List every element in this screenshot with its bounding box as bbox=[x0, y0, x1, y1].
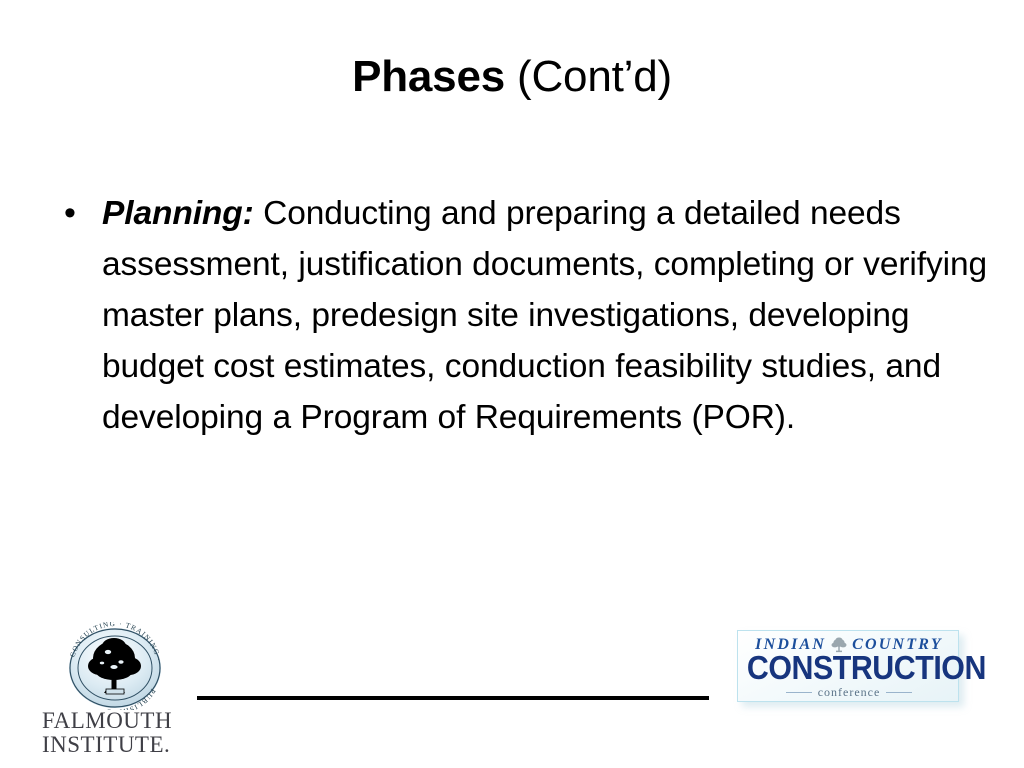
bullet-icon: • bbox=[64, 188, 76, 239]
falmouth-wordmark-line-2: INSTITUTE. bbox=[42, 734, 198, 758]
list-item-text: Planning: Conducting and preparing a det… bbox=[102, 195, 987, 436]
page-title: Phases (Cont’d) bbox=[0, 52, 1024, 102]
falmouth-seal-icon: CONSULTING · TRAINING · PUBLISHING bbox=[62, 622, 168, 710]
falmouth-institute-wordmark: FALMOUTH INSTITUTE. bbox=[42, 710, 198, 758]
icc-logo-frame: INDIAN COUNTRY CONSTRUCTION conferenc bbox=[737, 630, 959, 702]
page-title-strong: Phases bbox=[352, 52, 505, 101]
content-body: • Planning: Conducting and preparing a d… bbox=[60, 188, 990, 443]
slide-canvas: Phases (Cont’d) • Planning: Conducting a… bbox=[0, 0, 1024, 768]
indian-country-construction-logo: INDIAN COUNTRY CONSTRUCTION conferenc bbox=[723, 627, 969, 721]
icc-main-wordmark: CONSTRUCTION bbox=[747, 651, 951, 685]
icc-dash-left bbox=[786, 692, 812, 693]
icc-sub-row: conference bbox=[738, 685, 960, 700]
icc-sub-wordmark: conference bbox=[818, 685, 881, 700]
page-title-rest: (Cont’d) bbox=[505, 52, 672, 101]
list-item-lead-term: Planning: bbox=[102, 195, 254, 232]
footer-divider-rule bbox=[197, 696, 709, 700]
falmouth-wordmark-line-1: FALMOUTH bbox=[42, 710, 198, 734]
falmouth-wordmark-text-2: INSTITUTE. bbox=[42, 732, 170, 757]
falmouth-wordmark-text-1: FALMOUTH bbox=[42, 708, 172, 733]
list-item: • Planning: Conducting and preparing a d… bbox=[60, 188, 990, 443]
icc-dash-right bbox=[886, 692, 912, 693]
falmouth-institute-logo: CONSULTING · TRAINING · PUBLISHING bbox=[40, 618, 200, 750]
